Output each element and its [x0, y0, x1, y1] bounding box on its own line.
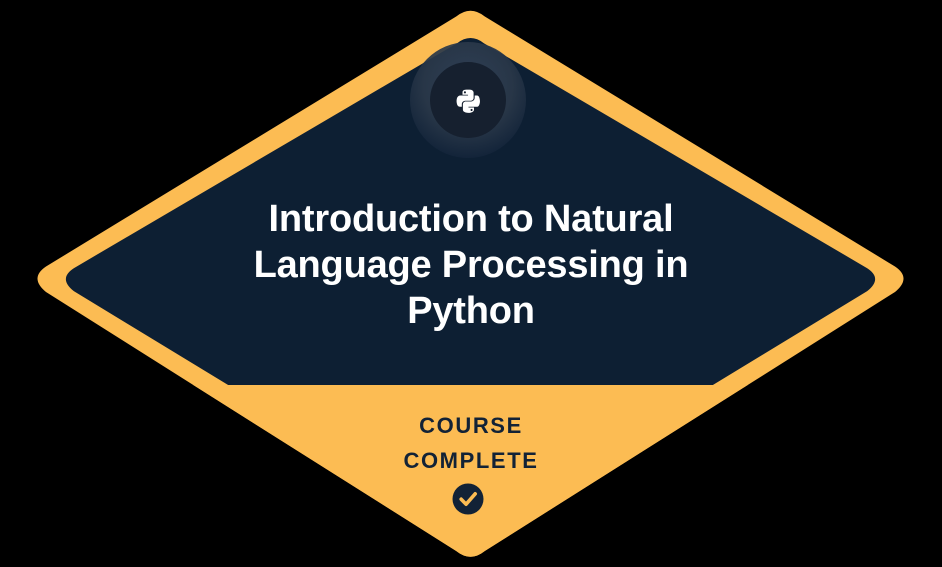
course-title: Introduction to Natural Language Process… [171, 196, 771, 334]
check-circle-background [453, 484, 484, 515]
check-circle-icon [453, 484, 484, 515]
status-badge-label: COURSE COMPLETE [271, 408, 671, 478]
course-completion-badge: Introduction to Natural Language Process… [0, 0, 942, 567]
